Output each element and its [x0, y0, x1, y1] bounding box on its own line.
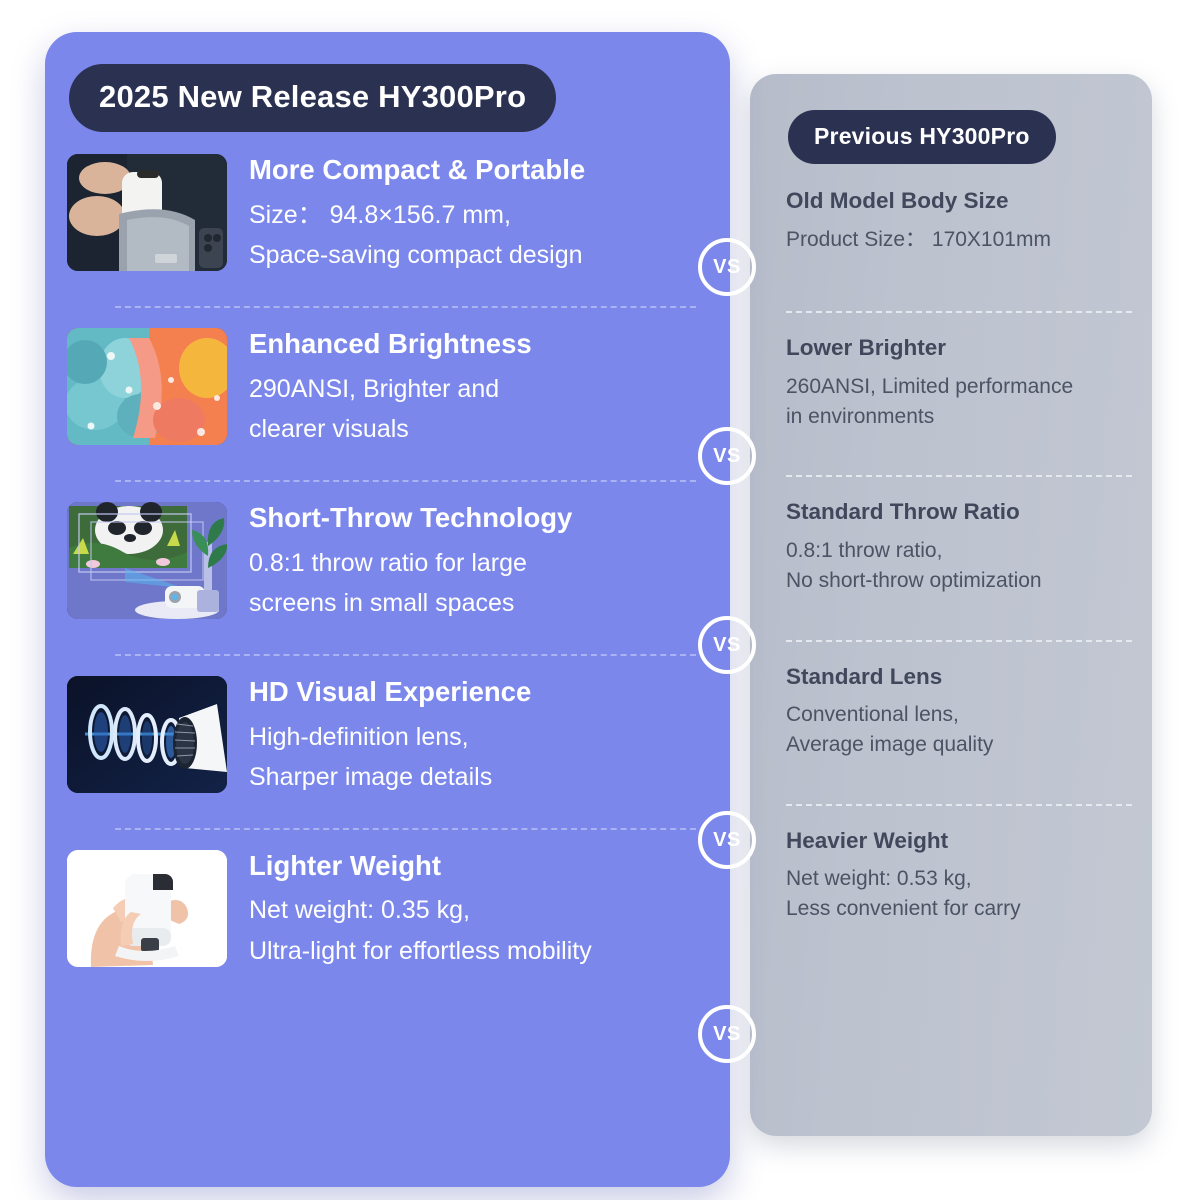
new-row-line: 290ANSI, Brighter and — [249, 369, 532, 410]
new-row-text: Enhanced Brightness 290ANSI, Brighter an… — [249, 328, 532, 450]
previous-model-rows: Old Model Body Size Product Size： 170X10… — [786, 190, 1136, 924]
previous-row-weight: Heavier Weight Net weight: 0.53 kg, Less… — [786, 830, 1136, 924]
new-row-line: Net weight: 0.35 kg, — [249, 890, 592, 931]
vs-badge-lens: VS — [698, 811, 756, 869]
previous-row-line: 0.8:1 throw ratio, — [786, 536, 1128, 566]
vs-badge-compact: VS — [698, 238, 756, 296]
previous-row-line: in environments — [786, 402, 1128, 432]
new-row-line: Size： 94.8×156.7 mm, — [249, 195, 585, 236]
new-divider — [115, 306, 696, 308]
new-row-brightness: Enhanced Brightness 290ANSI, Brighter an… — [67, 328, 708, 450]
new-row-text: Short-Throw Technology 0.8:1 throw ratio… — [249, 502, 572, 624]
previous-row-line: No short-throw optimization — [786, 566, 1128, 596]
previous-divider — [786, 475, 1132, 477]
new-row-hd-lens: HD Visual Experience High-definition len… — [67, 676, 708, 798]
new-divider — [115, 654, 696, 656]
new-row-line: 0.8:1 throw ratio for large — [249, 543, 572, 584]
previous-row-title: Heavier Weight — [786, 830, 1128, 853]
projector-in-hand-photo — [67, 850, 227, 967]
short-throw-panda-projection-photo — [67, 502, 227, 619]
new-row-text: HD Visual Experience High-definition len… — [249, 676, 531, 798]
new-row-title: Lighter Weight — [249, 852, 592, 881]
new-row-line: Space-saving compact design — [249, 235, 585, 276]
new-release-rows: More Compact & Portable Size： 94.8×156.7… — [67, 154, 708, 971]
new-row-title: Short-Throw Technology — [249, 504, 572, 533]
new-row-compact: More Compact & Portable Size： 94.8×156.7… — [67, 154, 708, 276]
projector-in-backpack-photo — [67, 154, 227, 271]
previous-row-lens: Standard Lens Conventional lens, Average… — [786, 666, 1136, 760]
previous-row-line: Less convenient for carry — [786, 894, 1128, 924]
new-row-line: Ultra-light for effortless mobility — [249, 931, 592, 972]
colorful-flowers-brightness-photo — [67, 328, 227, 445]
vs-badge-throw-ratio: VS — [698, 616, 756, 674]
new-row-title: Enhanced Brightness — [249, 330, 532, 359]
new-row-short-throw: Short-Throw Technology 0.8:1 throw ratio… — [67, 502, 708, 624]
previous-row-line: 260ANSI, Limited performance — [786, 372, 1128, 402]
previous-row-line: Conventional lens, — [786, 700, 1128, 730]
new-row-line: screens in small spaces — [249, 583, 572, 624]
new-release-panel: 2025 New Release HY300Pro — [45, 32, 730, 1187]
previous-row-title: Old Model Body Size — [786, 190, 1128, 213]
previous-row-line: Product Size： 170X101mm — [786, 225, 1128, 255]
new-row-text: Lighter Weight Net weight: 0.35 kg, Ultr… — [249, 850, 592, 972]
new-divider — [115, 828, 696, 830]
previous-divider — [786, 311, 1132, 313]
previous-model-badge: Previous HY300Pro — [788, 110, 1056, 164]
previous-row-title: Lower Brighter — [786, 337, 1128, 360]
vs-badge-brightness: VS — [698, 427, 756, 485]
comparison-infographic: Previous HY300Pro Old Model Body Size Pr… — [0, 0, 1200, 1200]
previous-row-title: Standard Throw Ratio — [786, 501, 1128, 524]
previous-row-throw-ratio: Standard Throw Ratio 0.8:1 throw ratio, … — [786, 501, 1136, 595]
previous-row-title: Standard Lens — [786, 666, 1128, 689]
new-row-line: Sharper image details — [249, 757, 531, 798]
previous-divider — [786, 640, 1132, 642]
new-row-line: High-definition lens, — [249, 717, 531, 758]
new-row-weight: Lighter Weight Net weight: 0.35 kg, Ultr… — [67, 850, 708, 972]
new-row-title: More Compact & Portable — [249, 156, 585, 185]
lens-exploded-view-photo — [67, 676, 227, 793]
new-row-title: HD Visual Experience — [249, 678, 531, 707]
new-divider — [115, 480, 696, 482]
previous-row-body-size: Old Model Body Size Product Size： 170X10… — [786, 190, 1136, 254]
previous-row-line: Net weight: 0.53 kg, — [786, 864, 1128, 894]
previous-model-panel: Previous HY300Pro Old Model Body Size Pr… — [750, 74, 1152, 1136]
new-row-line: clearer visuals — [249, 409, 532, 450]
previous-row-line: Average image quality — [786, 730, 1128, 760]
new-row-text: More Compact & Portable Size： 94.8×156.7… — [249, 154, 585, 276]
new-release-badge: 2025 New Release HY300Pro — [69, 64, 556, 132]
previous-divider — [786, 804, 1132, 806]
vs-badge-weight: VS — [698, 1005, 756, 1063]
previous-row-brightness: Lower Brighter 260ANSI, Limited performa… — [786, 337, 1136, 431]
